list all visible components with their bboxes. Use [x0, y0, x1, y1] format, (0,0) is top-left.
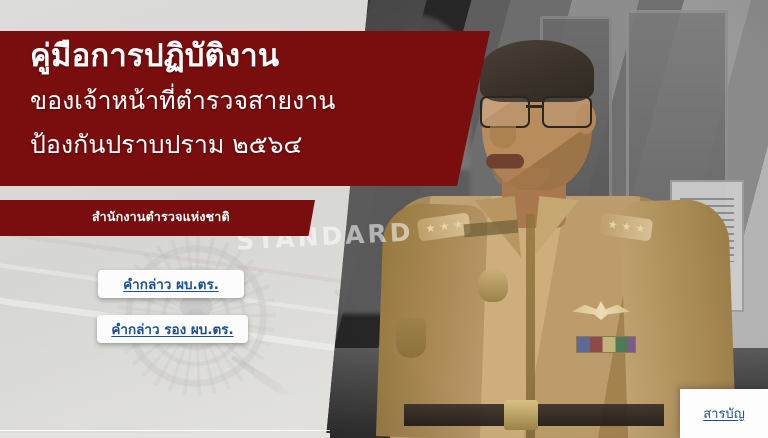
organization-name: สำนักงานตำรวจแห่งชาติ: [92, 207, 230, 227]
glasses-bridge: [526, 105, 542, 108]
officer-nose: [490, 126, 516, 148]
glasses-lens-left: [480, 96, 530, 128]
table-of-contents-button[interactable]: สารบัญ: [680, 389, 768, 438]
officer-collar-right: [533, 196, 579, 262]
epaulette-star: [439, 221, 449, 231]
title-text-stack: คู่มือการปฏิบัติงาน ของเจ้าหน้าที่ตำรวจส…: [30, 33, 450, 167]
title-line-3: ป้องกันปราบปราม ๒๕๖๔: [30, 123, 450, 167]
officer-glasses-icon: [480, 96, 596, 126]
epaulette-star: [635, 223, 645, 233]
officer-shoulder-patch: [396, 318, 426, 358]
commander-statement-button[interactable]: คำกล่าว ผบ.ตร.: [98, 270, 244, 298]
bottom-strip: [0, 433, 330, 438]
bottom-divider: [0, 430, 330, 431]
officer-ribbon-bar: [576, 336, 636, 353]
epaulette-star: [425, 223, 435, 233]
epaulette-star: [621, 221, 631, 231]
title-line-2: ของเจ้าหน้าที่ตำรวจสายงาน: [30, 79, 450, 123]
officer-belt-buckle: [504, 400, 538, 430]
commander-statement-label: คำกล่าว ผบ.ตร.: [123, 273, 219, 295]
deputy-commander-statement-button[interactable]: คำกล่าว รอง ผบ.ตร.: [97, 315, 248, 343]
epaulette-star: [453, 219, 463, 229]
glasses-lens-right: [542, 96, 592, 128]
title-line-1: คู่มือการปฏิบัติงาน: [30, 33, 450, 79]
officer-chest-emblem-icon: [478, 268, 508, 302]
table-of-contents-label: สารบัญ: [703, 403, 745, 424]
epaulette-star: [608, 220, 618, 230]
cover-slide: STANDARD คู่มือการปฏิบัติงาน ของเจ้าหน้า…: [0, 0, 768, 438]
officer-mouth: [486, 154, 524, 169]
deputy-commander-statement-label: คำกล่าว รอง ผบ.ตร.: [111, 318, 233, 340]
